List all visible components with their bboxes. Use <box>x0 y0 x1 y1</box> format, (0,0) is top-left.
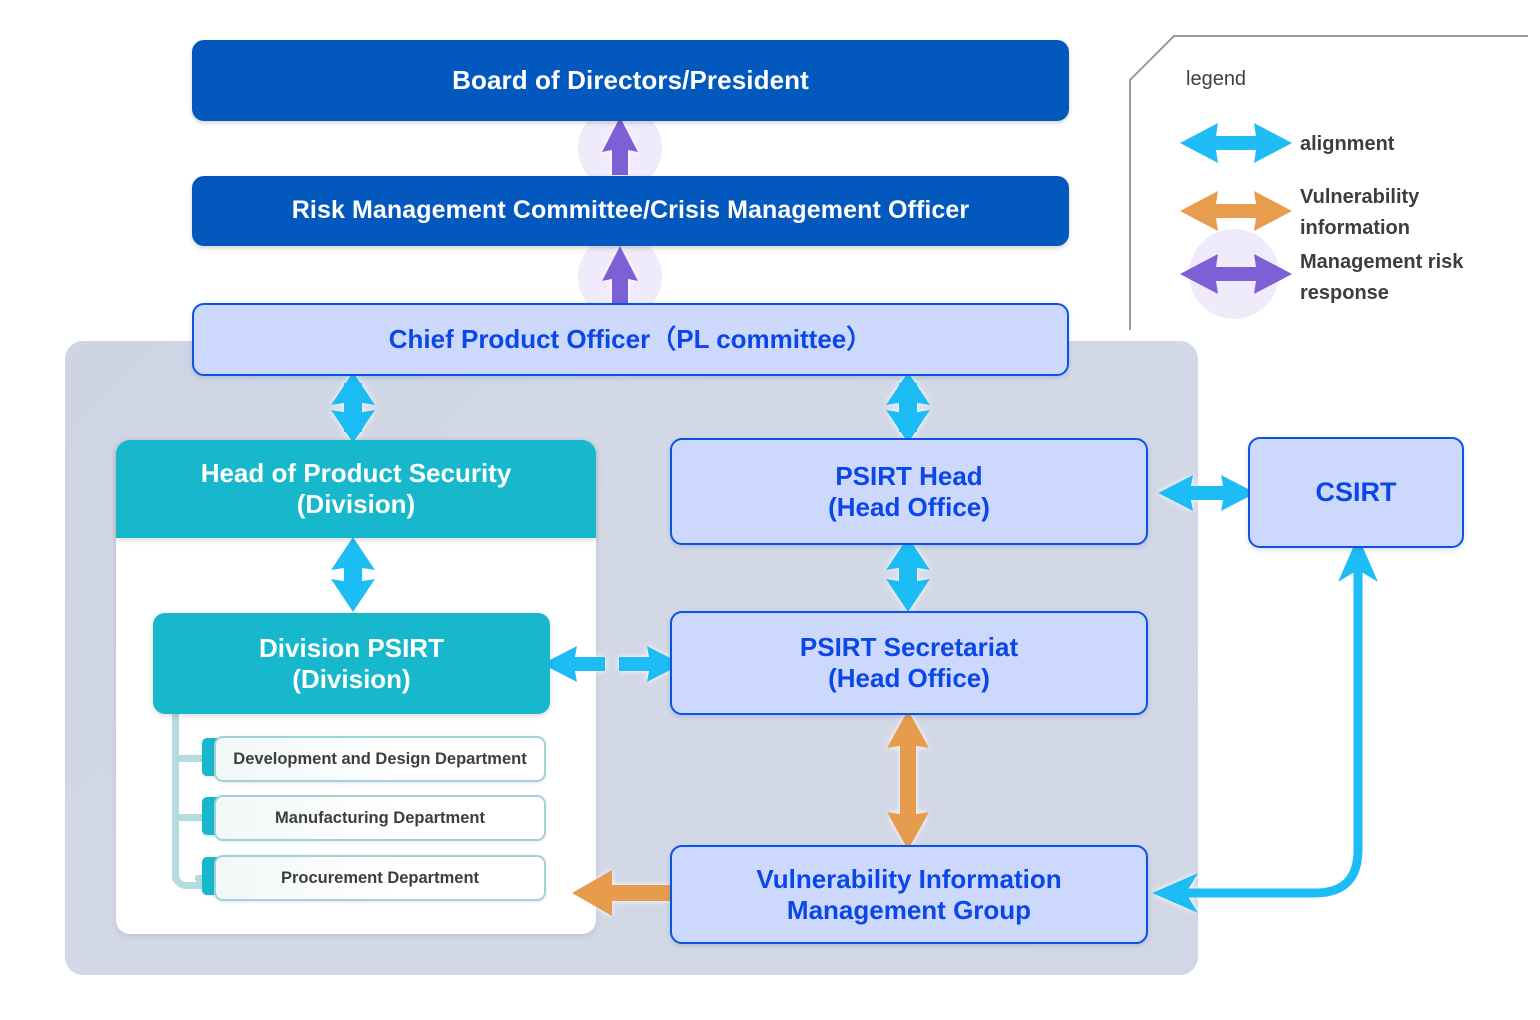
box-vulnerability-group-line2: Management Group <box>787 895 1031 926</box>
department-item-procurement[interactable]: Procurement Department <box>214 855 546 901</box>
legend-management-risk-label-line1: Management risk <box>1300 250 1463 276</box>
legend-vulnerability-label-line1: Vulnerability <box>1300 185 1419 211</box>
legend-vulnerability-label-line2: information <box>1300 216 1410 242</box>
department-label: Development and Design Department <box>233 750 526 769</box>
box-division-psirt-line1: Division PSIRT <box>259 633 444 664</box>
box-chief-product-officer-label: Chief Product Officer（PL committee） <box>389 324 873 355</box>
box-vulnerability-information-management-group[interactable]: Vulnerability Information Management Gro… <box>670 845 1148 944</box>
arrow-cpo-psirt-head <box>886 372 930 443</box>
box-head-of-product-security-line2: (Division) <box>297 489 415 520</box>
box-psirt-secretariat-line1: PSIRT Secretariat <box>800 632 1018 663</box>
department-label: Procurement Department <box>281 869 479 888</box>
diagram-canvas: Board of Directors/President Risk Manage… <box>0 0 1540 1020</box>
box-vulnerability-group-line1: Vulnerability Information <box>756 864 1061 895</box>
arrow-division-psirt-secretariat <box>542 646 682 682</box>
box-risk-management-committee[interactable]: Risk Management Committee/Crisis Managem… <box>192 176 1069 246</box>
box-psirt-head-line2: (Head Office) <box>828 492 990 523</box>
arrow-psirt-head-csirt <box>1158 475 1256 511</box>
box-psirt-secretariat[interactable]: PSIRT Secretariat (Head Office) <box>670 611 1148 715</box>
box-psirt-secretariat-line2: (Head Office) <box>828 663 990 694</box>
box-board-of-directors[interactable]: Board of Directors/President <box>192 40 1069 121</box>
legend-alignment-label: alignment <box>1300 132 1394 158</box>
arrow-psirt-head-secretariat <box>886 537 930 612</box>
box-psirt-head-line1: PSIRT Head <box>835 461 982 492</box>
arrow-head-security-division-psirt <box>331 537 375 612</box>
department-tree-trunk <box>172 712 179 882</box>
box-csirt[interactable]: CSIRT <box>1248 437 1464 548</box>
arrow-cpo-head-product-security <box>331 372 375 443</box>
department-item-development-and-design[interactable]: Development and Design Department <box>214 736 546 782</box>
legend-title: legend <box>1186 68 1246 91</box>
arrow-vulnerability-group-csirt <box>1152 536 1378 913</box>
legend-management-risk-label-line2: response <box>1300 281 1389 307</box>
department-item-manufacturing[interactable]: Manufacturing Department <box>214 795 546 841</box>
box-risk-management-committee-label: Risk Management Committee/Crisis Managem… <box>292 196 970 226</box>
box-board-of-directors-label: Board of Directors/President <box>452 65 809 96</box>
arrow-vulnerability-group-procurement <box>572 870 672 916</box>
legend-alignment-double-arrow-icon <box>1176 120 1296 166</box>
arrow-secretariat-vulnerability-group <box>887 710 929 850</box>
box-division-psirt-line2: (Division) <box>292 664 410 695</box>
legend: legend alignment Vulnerability informati… <box>1128 28 1528 330</box>
box-psirt-head[interactable]: PSIRT Head (Head Office) <box>670 438 1148 545</box>
box-division-psirt[interactable]: Division PSIRT (Division) <box>153 613 550 714</box>
legend-management-risk-double-arrow-icon <box>1156 226 1316 326</box>
box-head-of-product-security[interactable]: Head of Product Security (Division) <box>116 440 596 538</box>
box-chief-product-officer[interactable]: Chief Product Officer（PL committee） <box>192 303 1069 376</box>
department-label: Manufacturing Department <box>275 809 485 828</box>
box-head-of-product-security-line1: Head of Product Security <box>201 458 512 489</box>
box-csirt-label: CSIRT <box>1316 477 1397 509</box>
